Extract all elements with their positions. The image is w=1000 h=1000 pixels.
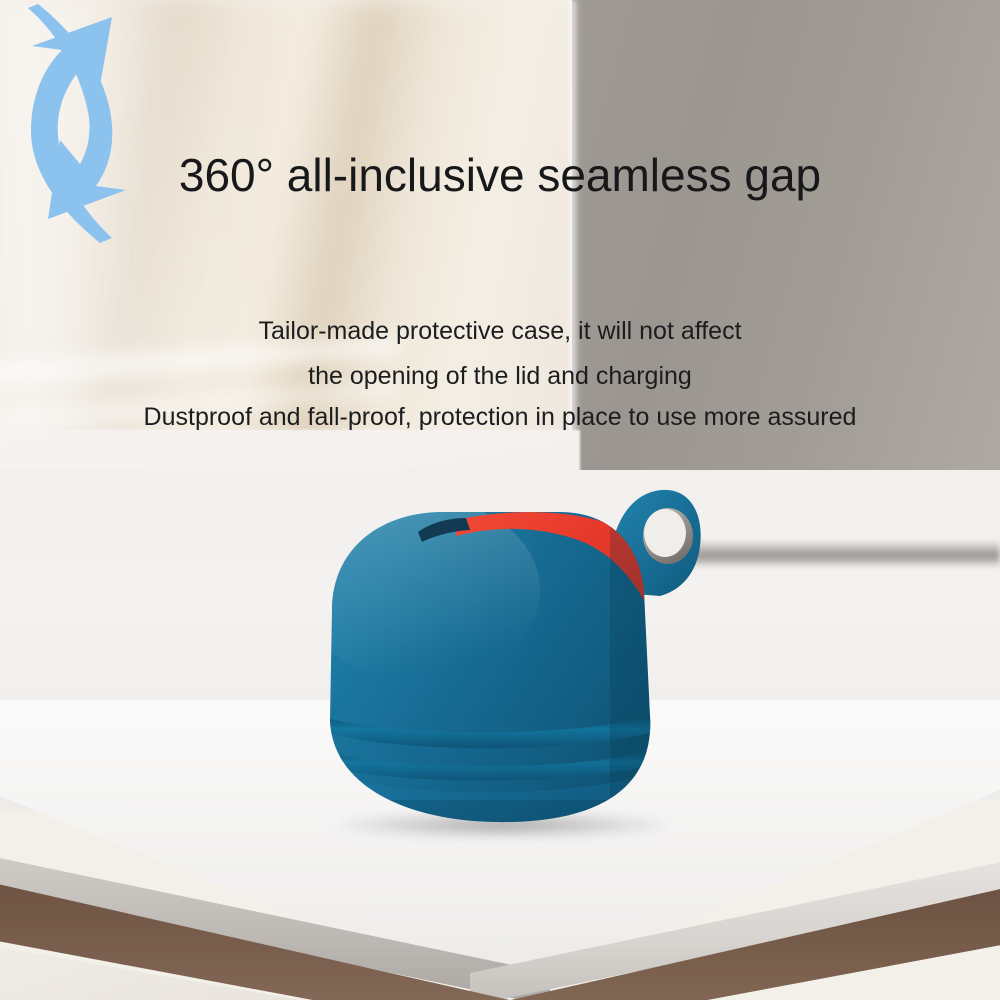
arrow-right-path xyxy=(28,4,126,219)
body-text-line-3: Dustproof and fall-proof, protection in … xyxy=(0,403,1000,432)
arrow-right-icon xyxy=(0,0,180,225)
case-body xyxy=(310,498,682,860)
body-text-line-2: the opening of the lid and charging xyxy=(0,362,1000,391)
body-base-shade xyxy=(310,800,670,860)
product-promo-image: 360° all-inclusive seamless gap Tailor-m… xyxy=(0,0,1000,1000)
case-svg xyxy=(310,480,710,860)
loop-hole-inner xyxy=(644,509,686,557)
product-image xyxy=(310,480,710,860)
body-text-line-1: Tailor-made protective case, it will not… xyxy=(0,317,1000,346)
